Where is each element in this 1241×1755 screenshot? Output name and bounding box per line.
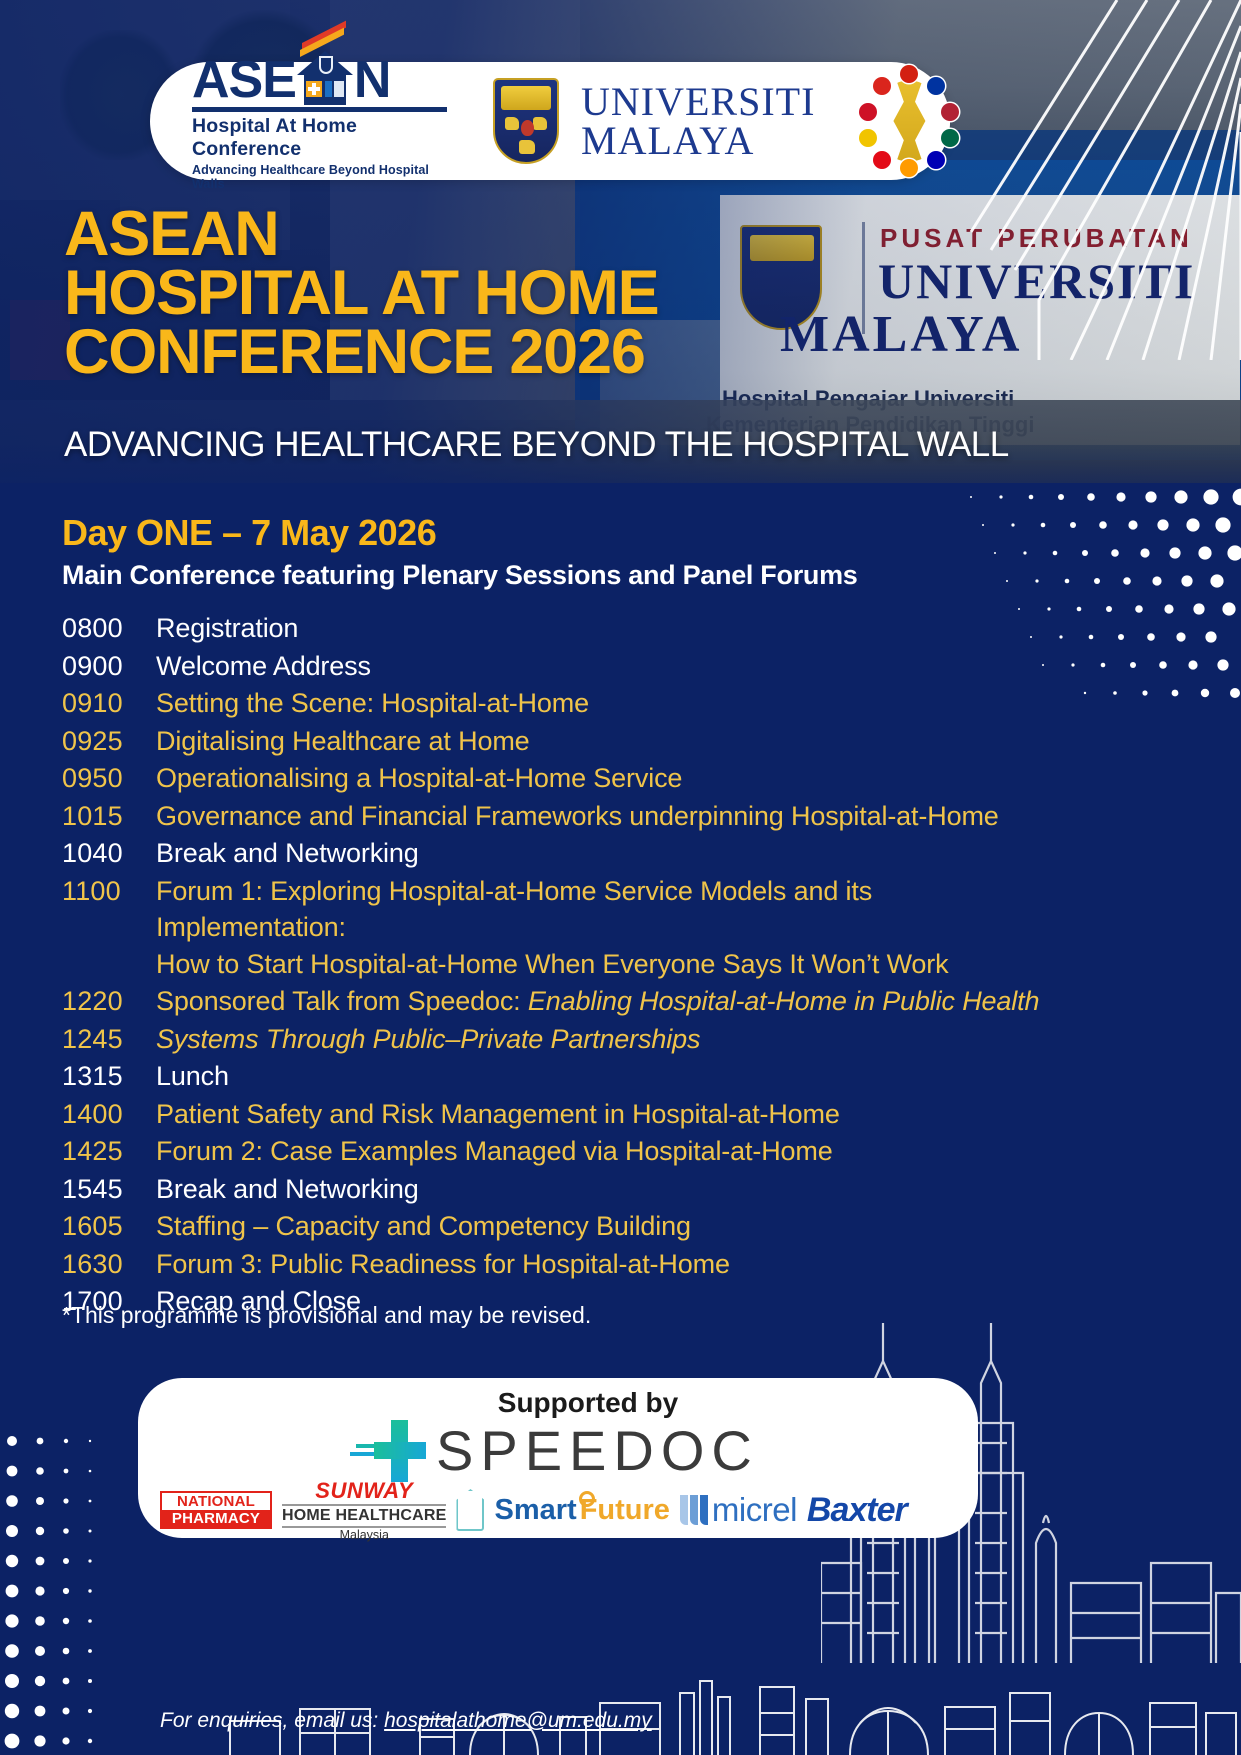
agenda-row-time: 1245	[62, 1021, 156, 1058]
agenda-row-session-title: Enabling Hospital-at-Home in Public Heal…	[528, 986, 1039, 1016]
agenda-row-description: Systems Through Public–Private Partnersh…	[156, 1021, 700, 1058]
asean-logo-letters-after: N	[354, 55, 391, 105]
agenda-row-description: Forum 2: Case Examples Managed via Hospi…	[156, 1133, 833, 1170]
agenda-row-session-title: Systems Through Public–Private Partnersh…	[156, 1024, 700, 1054]
enquiry-prefix: For enquiries, email us:	[160, 1709, 384, 1732]
conference-poster: PUSAT PERUBATAN UNIVERSITI MALAYA Hospit…	[0, 0, 1241, 1755]
agenda-row-time: 1040	[62, 835, 156, 872]
university-name-line1: UNIVERSITI	[581, 82, 815, 121]
agenda-row-description: Patient Safety and Risk Management in Ho…	[156, 1096, 840, 1133]
agenda-row-time: 1400	[62, 1096, 156, 1133]
agenda-row-time: 1605	[62, 1208, 156, 1245]
agenda-row: 0800Registration	[62, 610, 1062, 647]
sponsor-bar: Supported by SPEEDOC NATIONAL PHARMACY S…	[138, 1378, 978, 1538]
day-heading: Day ONE – 7 May 2026	[62, 512, 436, 554]
smartfuture-ring-icon	[579, 1491, 595, 1507]
agenda-row: 1015Governance and Financial Frameworks …	[62, 798, 1062, 835]
poster-subtitle: ADVANCING HEALTHCARE BEYOND THE HOSPITAL…	[64, 425, 1009, 465]
asean-logo-tagline-2: Advancing Healthcare Beyond Hospital Wal…	[192, 163, 447, 191]
agenda-row-description: Welcome Address	[156, 648, 371, 685]
supported-by-label: Supported by	[138, 1387, 978, 1419]
agenda-row: 0910Setting the Scene: Hospital-at-Home	[62, 685, 1062, 722]
agenda-row: 1040Break and Networking	[62, 835, 1062, 872]
speedoc-cross-icon	[368, 1420, 430, 1482]
speedoc-logo: SPEEDOC	[368, 1418, 759, 1483]
agenda-row-description: Operationalising a Hospital-at-Home Serv…	[156, 760, 682, 797]
agenda-row-time: 0910	[62, 685, 156, 722]
agenda-row: 0950Operationalising a Hospital-at-Home …	[62, 760, 1062, 797]
university-crest-icon	[493, 78, 559, 164]
asean-flags-circle-icon	[855, 67, 950, 175]
agenda-row: 0900Welcome Address	[62, 648, 1062, 685]
house-with-medical-cross-icon	[297, 51, 353, 105]
agenda-row: 1630Forum 3: Public Readiness for Hospit…	[62, 1246, 1062, 1283]
agenda-row-time: 1015	[62, 798, 156, 835]
baxter-logo: Baxter	[807, 1491, 907, 1530]
sunway-line2: HOME HEALTHCARE	[282, 1504, 446, 1528]
agenda-row: 1245Systems Through Public–Private Partn…	[62, 1021, 1062, 1058]
diagonal-line-fan-decoration	[911, 0, 1241, 360]
agenda-row-time: 0950	[62, 760, 156, 797]
agenda-row-description: Setting the Scene: Hospital-at-Home	[156, 685, 589, 722]
logo-bar: ASE N Hospital At Home Conference Advanc…	[150, 62, 950, 180]
agenda-row: 1315Lunch	[62, 1058, 1062, 1095]
agenda-row: 1100Forum 1: Exploring Hospital-at-Home …	[62, 873, 1062, 983]
speedoc-wordmark: SPEEDOC	[436, 1418, 759, 1483]
agenda-row-description: Break and Networking	[156, 1171, 419, 1208]
agenda-row-time: 0900	[62, 648, 156, 685]
asean-logo-tagline-1: Hospital At Home Conference	[192, 115, 447, 161]
agenda-row-description: Break and Networking	[156, 835, 419, 872]
programme-note: *This programme is provisional and may b…	[62, 1302, 591, 1329]
agenda-row-time: 1425	[62, 1133, 156, 1170]
medical-cross-icon	[306, 81, 322, 97]
agenda-row-time: 1630	[62, 1246, 156, 1283]
agenda-row-description: Governance and Financial Frameworks unde…	[156, 798, 999, 835]
enquiry-line: For enquiries, email us: hospitalathome@…	[160, 1709, 652, 1733]
universiti-malaya-logo: UNIVERSITI MALAYA	[493, 78, 815, 164]
sunway-line3: Malaysia	[282, 1528, 446, 1542]
agenda-row: 1220Sponsored Talk from Speedoc: Enablin…	[62, 983, 1062, 1020]
micrel-logo: micrel	[680, 1491, 797, 1529]
agenda-row-description-cont: How to Start Hospital-at-Home When Every…	[156, 946, 1062, 983]
national-pharmacy-logo: NATIONAL PHARMACY	[160, 1491, 272, 1529]
agenda-row: 1605Staffing – Capacity and Competency B…	[62, 1208, 1062, 1245]
poster-title-block: ASEAN HOSPITAL AT HOME CONFERENCE 2026	[64, 205, 658, 382]
agenda-row-description: Forum 1: Exploring Hospital-at-Home Serv…	[156, 873, 1062, 983]
stethoscope-icon	[319, 56, 333, 74]
sunway-line1: SUNWAY	[282, 1478, 446, 1504]
smartfuture-logo: SmartFuture	[494, 1494, 669, 1527]
micrel-bars-icon	[680, 1495, 708, 1525]
national-pharmacy-line2: PHARMACY	[162, 1510, 270, 1527]
agenda-row: 1545Break and Networking	[62, 1171, 1062, 1208]
agenda-row-description: Lunch	[156, 1058, 229, 1095]
national-pharmacy-line1: NATIONAL	[162, 1493, 270, 1510]
agenda-row-description: Digitalising Healthcare at Home	[156, 723, 530, 760]
sponsor-logos-row: NATIONAL PHARMACY SUNWAY HOME HEALTHCARE…	[160, 1486, 978, 1534]
agenda-row-time: 0925	[62, 723, 156, 760]
agenda-row-description: Staffing – Capacity and Competency Build…	[156, 1208, 691, 1245]
smartfuture-part1: Smart	[494, 1494, 576, 1526]
agenda-row-description: Forum 3: Public Readiness for Hospital-a…	[156, 1246, 730, 1283]
sunway-home-healthcare-logo: SUNWAY HOME HEALTHCARE Malaysia	[282, 1478, 446, 1542]
agenda-row-description: Sponsored Talk from Speedoc: Enabling Ho…	[156, 983, 1039, 1020]
agenda-row-time: 1100	[62, 873, 156, 910]
home-care-house-icon	[456, 1489, 484, 1531]
enquiry-email-link[interactable]: hospitalathome@um.edu.my	[384, 1709, 652, 1732]
agenda-row: 1400Patient Safety and Risk Management i…	[62, 1096, 1062, 1133]
agenda-row: 1425Forum 2: Case Examples Managed via H…	[62, 1133, 1062, 1170]
agenda-row-time: 1315	[62, 1058, 156, 1095]
agenda-row-time: 1220	[62, 983, 156, 1020]
day-subheading: Main Conference featuring Plenary Sessio…	[62, 560, 858, 591]
page-title: ASEAN HOSPITAL AT HOME CONFERENCE 2026	[64, 205, 658, 382]
asean-conference-logo: ASE N Hospital At Home Conference Advanc…	[192, 51, 447, 191]
agenda-row-time: 1545	[62, 1171, 156, 1208]
asean-logo-letters-before: ASE	[192, 55, 296, 105]
university-name-line2: MALAYA	[581, 121, 815, 160]
agenda-list: 0800Registration0900Welcome Address0910S…	[62, 610, 1062, 1321]
agenda-row-time: 0800	[62, 610, 156, 647]
halftone-dots-bottom-left-decoration	[0, 1425, 150, 1755]
micrel-wordmark: micrel	[712, 1491, 797, 1529]
agenda-row-description: Registration	[156, 610, 298, 647]
agenda-row: 0925Digitalising Healthcare at Home	[62, 723, 1062, 760]
